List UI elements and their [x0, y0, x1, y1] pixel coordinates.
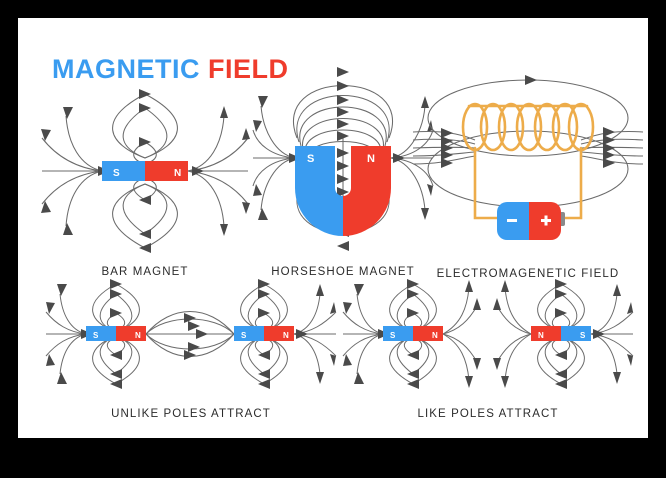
- figure-electromagnetic-field: ELECTROMAGENETIC FIELD: [413, 52, 643, 282]
- pole-label-north: N: [174, 168, 181, 179]
- title-primary: MAGNETIC: [52, 54, 200, 84]
- magnet-a-pole-right: N: [135, 331, 141, 340]
- figure-like-poles: S N N S LIKE POLES ATTRACT: [343, 280, 633, 420]
- pole-label-south: S: [307, 153, 314, 165]
- content-panel: MAGNETIC FIELD: [18, 18, 648, 438]
- magnet-a-pole-left: S: [390, 331, 396, 340]
- figure-horseshoe-magnet: S N HORSESHOE MAGNET: [253, 58, 433, 278]
- magnet-b-pole-right: N: [283, 331, 289, 340]
- battery-minus-symbol: [507, 219, 517, 222]
- pole-label-south: S: [113, 168, 120, 179]
- caption-unlike-poles: UNLIKE POLES ATTRACT: [46, 408, 336, 420]
- magnet-b-pole-left: S: [241, 331, 247, 340]
- field-lines: [413, 80, 643, 207]
- magnet-b-pole-right: S: [580, 331, 586, 340]
- caption-electromagnetic-field: ELECTROMAGENETIC FIELD: [413, 268, 643, 280]
- caption-horseshoe-magnet: HORSESHOE MAGNET: [253, 266, 433, 278]
- caption-bar-magnet: BAR MAGNET: [40, 266, 250, 278]
- magnet-b-pole-left: N: [538, 331, 544, 340]
- figure-unlike-poles: S N S N UNLIKE POLES ATTRACT: [46, 280, 336, 420]
- caption-like-poles: LIKE POLES ATTRACT: [343, 408, 633, 420]
- coil: [463, 104, 593, 218]
- battery: [497, 202, 565, 240]
- magnet-a-pole-right: N: [432, 331, 438, 340]
- figure-bar-magnet: S N BAR MAGNET: [40, 86, 250, 276]
- pole-label-north: N: [367, 153, 375, 165]
- magnet-a-pole-left: S: [93, 331, 99, 340]
- infographic-canvas: MAGNETIC FIELD: [0, 0, 666, 478]
